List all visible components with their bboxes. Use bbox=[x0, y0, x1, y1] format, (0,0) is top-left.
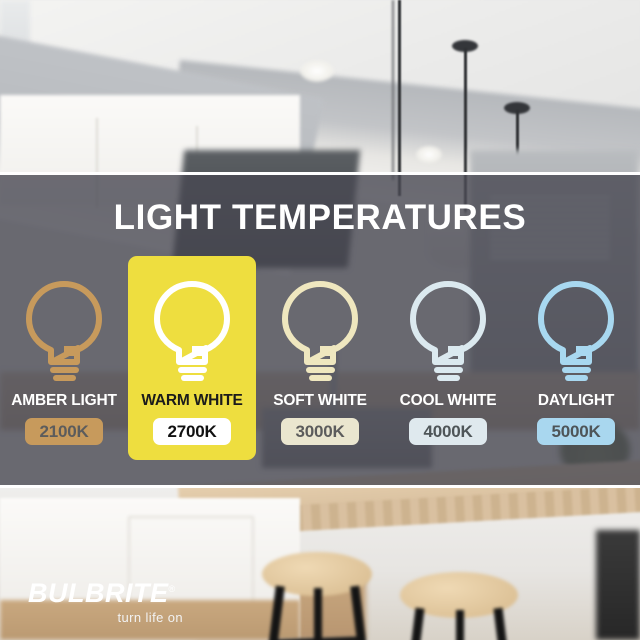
kelvin-badge: 4000K bbox=[409, 418, 487, 445]
registered-trademark-icon: ® bbox=[169, 584, 176, 594]
lightbulb-icon bbox=[18, 276, 110, 386]
temperature-card-amber-light[interactable]: AMBER LIGHT 2100K bbox=[0, 256, 128, 460]
bar-stool bbox=[400, 572, 518, 640]
temperature-card-cool-white[interactable]: COOL WHITE 4000K bbox=[384, 256, 512, 460]
temperature-label: DAYLIGHT bbox=[538, 392, 614, 410]
logo-wordmark-text: BULBRITE bbox=[28, 578, 169, 608]
temperature-label: WARM WHITE bbox=[141, 392, 242, 410]
temperature-card-row: AMBER LIGHT 2100K WARM WHITE 2700K bbox=[0, 256, 640, 460]
logo-wordmark: BULBRITE® bbox=[28, 580, 176, 607]
temperature-label: SOFT WHITE bbox=[273, 392, 367, 410]
kelvin-badge: 3000K bbox=[281, 418, 359, 445]
lightbulb-icon bbox=[146, 276, 238, 386]
page-title: LIGHT TEMPERATURES bbox=[0, 198, 640, 238]
temperature-card-soft-white[interactable]: SOFT WHITE 3000K bbox=[256, 256, 384, 460]
temperature-card-daylight[interactable]: DAYLIGHT 5000K bbox=[512, 256, 640, 460]
lightbulb-icon bbox=[274, 276, 366, 386]
lightbulb-icon bbox=[530, 276, 622, 386]
temperature-label: AMBER LIGHT bbox=[11, 392, 116, 410]
band-bottom-divider bbox=[0, 485, 640, 488]
kelvin-badge: 2100K bbox=[25, 418, 103, 445]
kelvin-badge: 5000K bbox=[537, 418, 615, 445]
lightbulb-icon bbox=[402, 276, 494, 386]
brand-logo: BULBRITE® turn life on bbox=[28, 580, 218, 625]
temperature-card-warm-white[interactable]: WARM WHITE 2700K bbox=[128, 256, 256, 460]
temperature-label: COOL WHITE bbox=[400, 392, 497, 410]
kelvin-badge: 2700K bbox=[153, 418, 231, 445]
bar-stool bbox=[262, 552, 374, 640]
logo-tagline: turn life on bbox=[28, 610, 183, 625]
light-temperature-infographic: LIGHT TEMPERATURES AMBER LIGHT 2100K bbox=[0, 0, 640, 640]
